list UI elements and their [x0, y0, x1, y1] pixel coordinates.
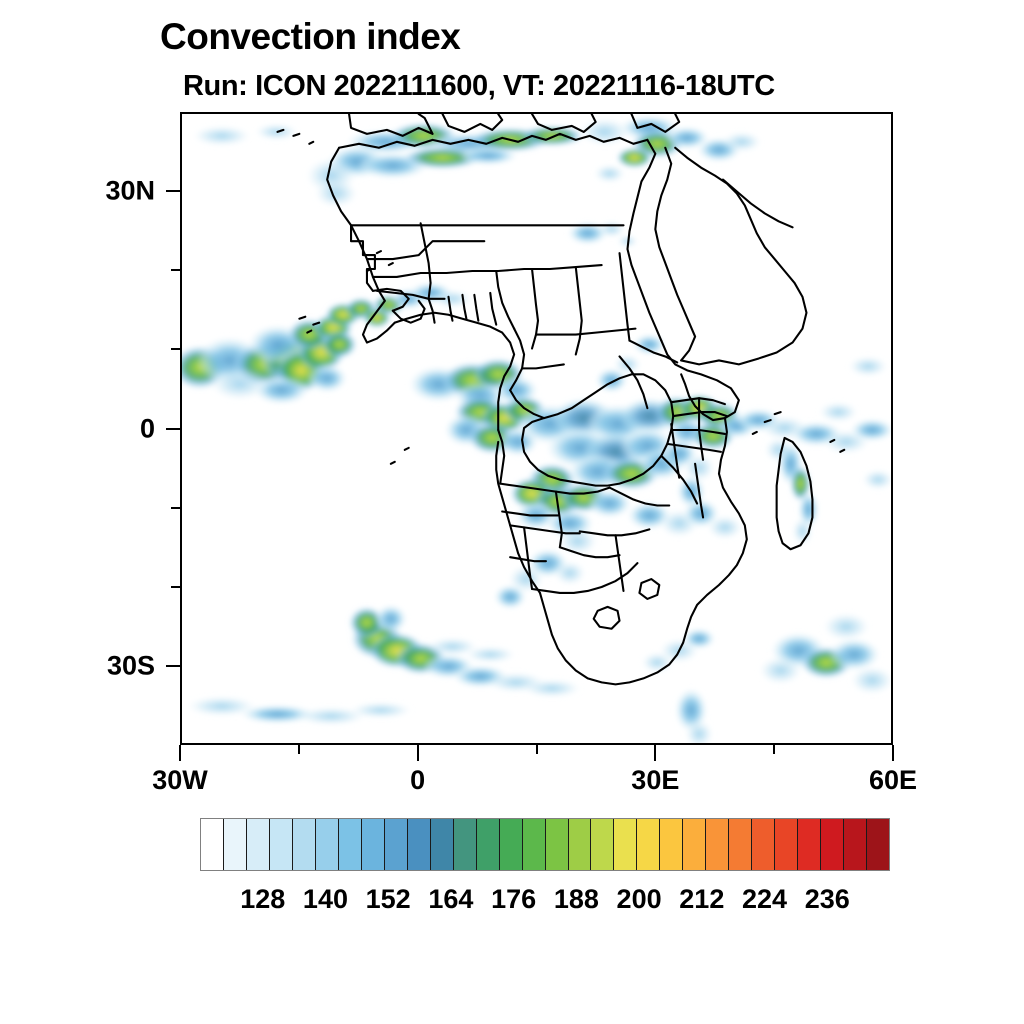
colorbar-cell[interactable] — [362, 819, 385, 870]
colorbar-cell[interactable] — [316, 819, 339, 870]
colorbar-cell[interactable] — [431, 819, 454, 870]
colorbar-cell[interactable] — [454, 819, 477, 870]
colorbar-cell[interactable] — [569, 819, 592, 870]
colorbar-tick-label: 176 — [491, 884, 536, 915]
colorbar-cell[interactable] — [821, 819, 844, 870]
colorbar-tick-label: 164 — [428, 884, 473, 915]
colorbar-cell[interactable] — [201, 819, 224, 870]
colorbar-cell[interactable] — [844, 819, 867, 870]
colorbar-tick-label: 200 — [617, 884, 662, 915]
colorbar[interactable] — [200, 818, 890, 871]
colorbar-cell[interactable] — [477, 819, 500, 870]
x-tick — [892, 745, 894, 761]
colorbar-tick-label: 140 — [303, 884, 348, 915]
colorbar-cell[interactable] — [339, 819, 362, 870]
convection-index-map — [182, 114, 891, 743]
colorbar-cell[interactable] — [637, 819, 660, 870]
figure-canvas: Convection index Run: ICON 2022111600, V… — [0, 0, 1024, 1024]
colorbar-tick-label: 236 — [805, 884, 850, 915]
x-tick — [417, 745, 419, 761]
colorbar-tick-label: 128 — [240, 884, 285, 915]
y-axis-label-0: 0 — [60, 413, 155, 444]
colorbar-cell[interactable] — [500, 819, 523, 870]
colorbar-tick-label: 212 — [679, 884, 724, 915]
colorbar-cell[interactable] — [247, 819, 270, 870]
colorbar-cell[interactable] — [385, 819, 408, 870]
x-tick — [298, 745, 300, 754]
colorbar-cell[interactable] — [683, 819, 706, 870]
colorbar-cell[interactable] — [706, 819, 729, 870]
colorbar-cell[interactable] — [523, 819, 546, 870]
colorbar-cell[interactable] — [775, 819, 798, 870]
colorbar-cell[interactable] — [752, 819, 775, 870]
y-tick — [171, 348, 180, 350]
x-axis-label-30E: 30E — [631, 765, 679, 796]
colorbar-tick-label: 224 — [742, 884, 787, 915]
x-axis-label-30W: 30W — [152, 765, 208, 796]
x-tick — [773, 745, 775, 754]
y-tick — [171, 507, 180, 509]
colorbar-tick-label: 188 — [554, 884, 599, 915]
colorbar-cell[interactable] — [798, 819, 821, 870]
y-axis-label-30N: 30N — [60, 176, 155, 207]
x-tick — [179, 745, 181, 761]
figure-subtitle: Run: ICON 2022111600, VT: 20221116-18UTC — [183, 70, 775, 103]
x-tick — [654, 745, 656, 761]
y-tick — [166, 428, 180, 430]
colorbar-cell[interactable] — [729, 819, 752, 870]
page-title: Convection index — [160, 16, 460, 58]
y-tick — [171, 269, 180, 271]
colorbar-cell[interactable] — [867, 819, 889, 870]
colorbar-cell[interactable] — [660, 819, 683, 870]
x-axis-label-60E: 60E — [869, 765, 917, 796]
colorbar-cell[interactable] — [546, 819, 569, 870]
y-axis-label-30S: 30S — [60, 650, 155, 681]
colorbar-cell[interactable] — [591, 819, 614, 870]
y-tick — [171, 586, 180, 588]
colorbar-cell[interactable] — [293, 819, 316, 870]
map-plot-area[interactable] — [180, 112, 893, 745]
y-tick — [166, 665, 180, 667]
colorbar-tick-label: 152 — [366, 884, 411, 915]
y-tick — [166, 190, 180, 192]
x-tick — [536, 745, 538, 754]
colorbar-cell[interactable] — [270, 819, 293, 870]
colorbar-cell[interactable] — [614, 819, 637, 870]
colorbar-cell[interactable] — [224, 819, 247, 870]
colorbar-cell[interactable] — [408, 819, 431, 870]
x-axis-label-0: 0 — [410, 765, 425, 796]
